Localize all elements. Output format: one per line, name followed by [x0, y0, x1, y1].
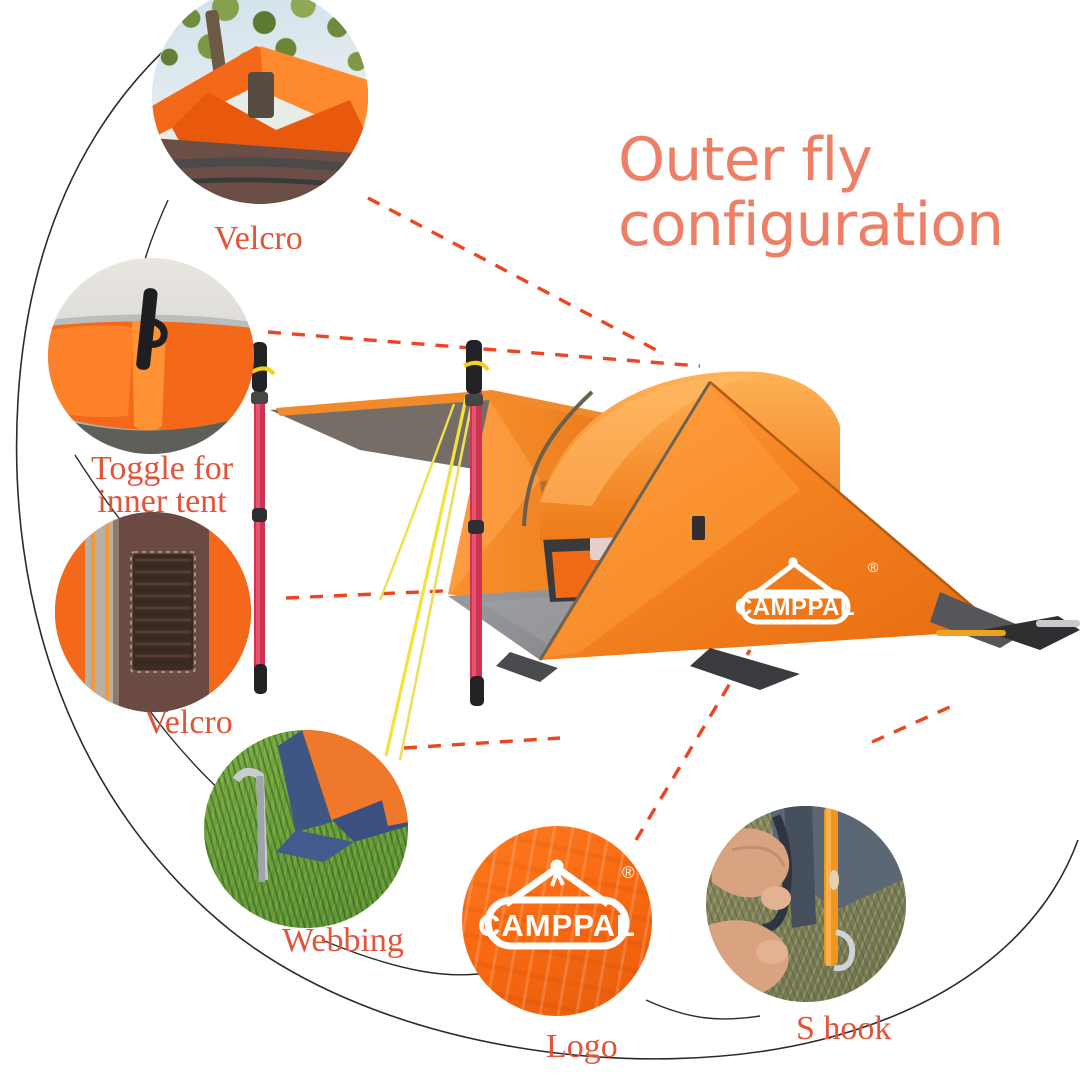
trekking-pole-right — [464, 340, 488, 706]
callout-photo-toggle — [48, 258, 254, 454]
guyline-1 — [386, 398, 466, 756]
callout-photo-velcro-top — [152, 0, 368, 204]
photo-content-velcro-top — [152, 0, 368, 204]
photo-content-velcro-patch — [55, 512, 251, 712]
photo-content-s-hook — [706, 806, 906, 1002]
callout-photo-velcro-patch — [55, 512, 251, 712]
fingernail-lower — [756, 940, 788, 964]
callout-photo-webbing — [204, 730, 408, 928]
trekking-pole-left — [251, 342, 274, 694]
photo-content-toggle — [48, 258, 254, 454]
callout-photo-s-hook — [706, 806, 906, 1002]
fly-fabric-highlight — [48, 325, 134, 417]
logo-wordmark: CAMPPAL — [478, 908, 636, 943]
photo-content-webbing — [204, 730, 408, 928]
seam-tape-gray — [85, 512, 115, 712]
callout-photo-logo: CAMPPAL ® — [462, 826, 652, 1016]
infographic-canvas: Outer fly configuration — [0, 0, 1080, 1080]
tent-stake-shaft — [260, 776, 262, 882]
logo-climber-head — [551, 860, 564, 873]
logo-mark: CAMPPAL ® — [462, 826, 652, 1016]
logo-registered-mark: ® — [622, 863, 635, 882]
stitch-line-1 — [91, 512, 95, 712]
fly-edge-orange-right — [205, 512, 251, 712]
webbing-strap — [276, 830, 354, 862]
velcro-strap — [248, 72, 274, 118]
stitch-line-2 — [105, 512, 109, 712]
fingernail-upper — [761, 886, 791, 910]
pole-joint — [829, 870, 839, 890]
